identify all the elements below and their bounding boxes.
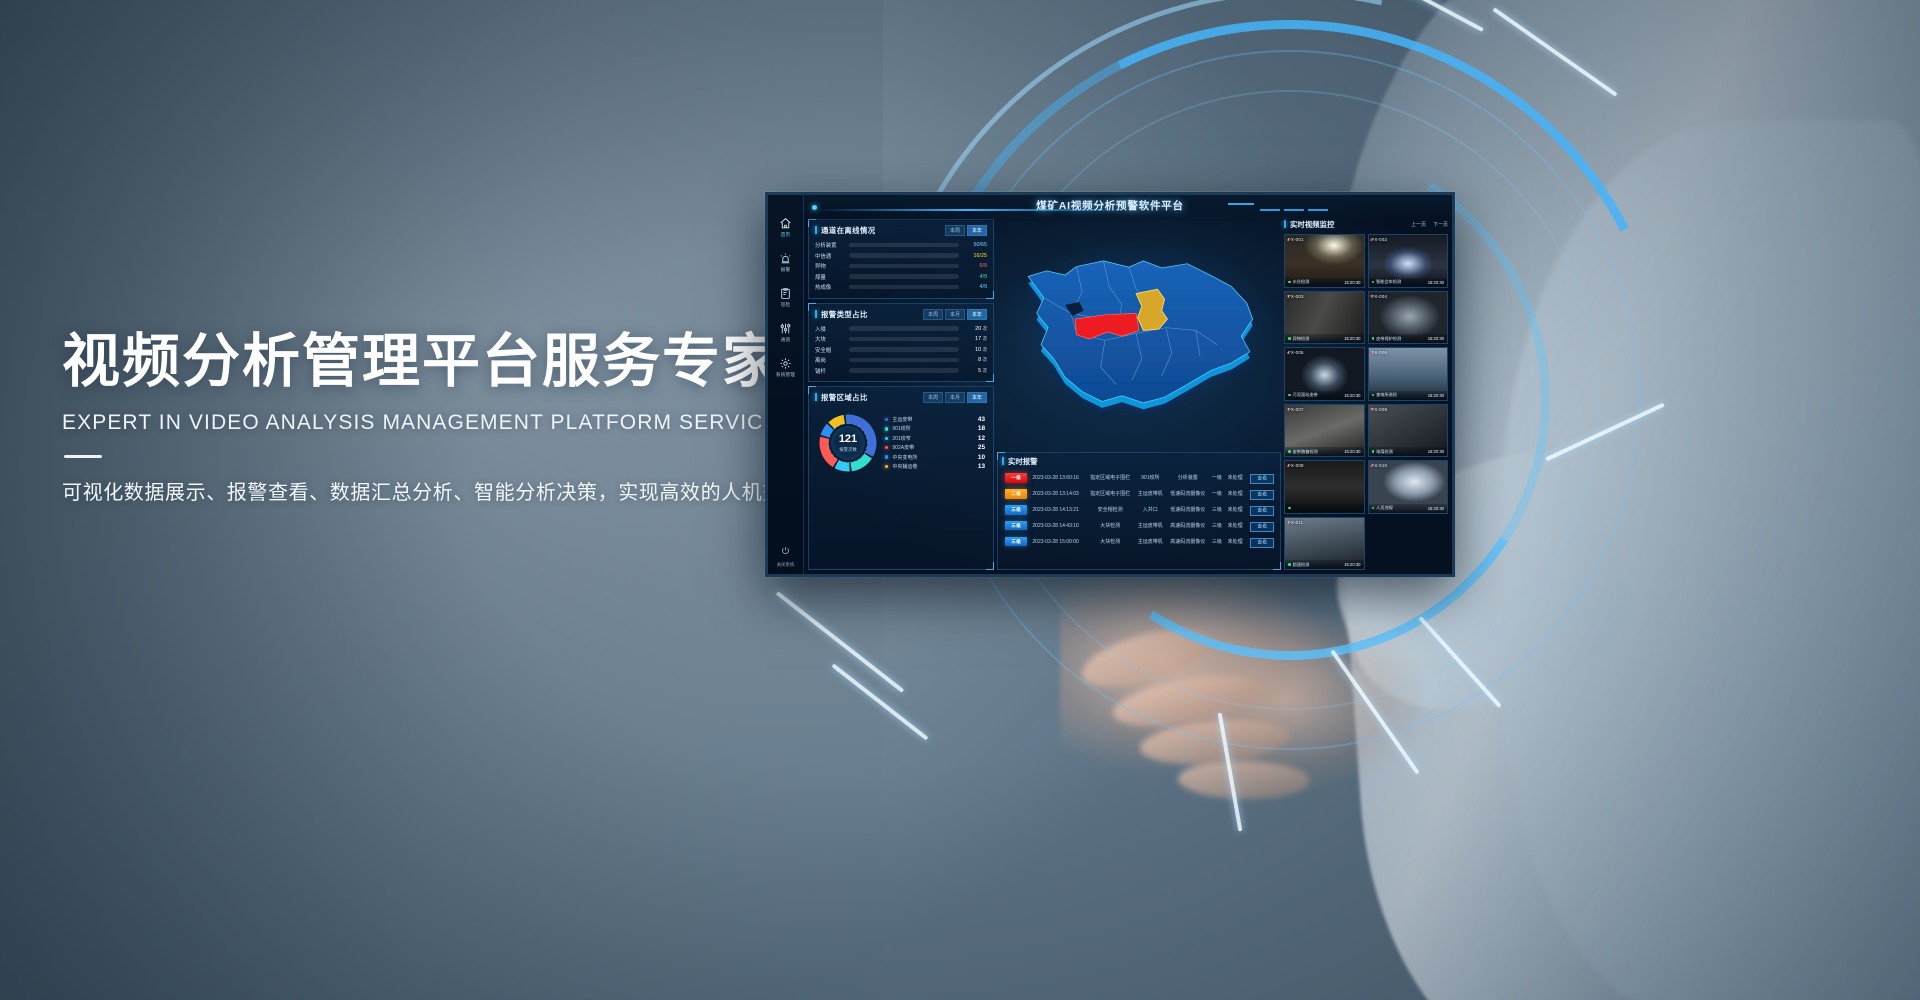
table-row[interactable]: 二级2023-03-28 13:14:03指定区域电子围栏主运皮带机低速码流摄像… bbox=[1002, 486, 1276, 502]
video-tile[interactable]: FX-003异物检测15:20:30 bbox=[1284, 291, 1365, 345]
online-dot-icon bbox=[1288, 450, 1291, 453]
alarm-status-cell: 未处理 bbox=[1225, 470, 1246, 486]
bar-label: 入侵 bbox=[815, 325, 845, 333]
bar-track bbox=[849, 358, 959, 363]
video-infobar: 皮带跑偏检测15:20:30 bbox=[1285, 447, 1364, 456]
status-badge: 一级 bbox=[1005, 473, 1027, 482]
camera-name: 堆煤检测 bbox=[1372, 449, 1393, 455]
legend-label: 中央变电所 bbox=[892, 454, 974, 461]
camera-time: 15:20:30 bbox=[1344, 562, 1360, 567]
alarm-area-panel: 报警区域占比 本周 本月 本年 121 报警次数 主运皮 bbox=[808, 386, 994, 570]
legend-item: 主运皮带43 bbox=[885, 416, 985, 423]
sidebar-label-inspection: 巡检 bbox=[781, 302, 791, 308]
bar-track bbox=[849, 253, 959, 258]
monitor-frame: 煤矿AI视频分析预警软件平台 首页 报警 bbox=[765, 192, 1455, 577]
type-panel-header: 报警类型占比 本周 本月 本年 bbox=[815, 309, 987, 320]
online-dot-icon bbox=[1372, 337, 1375, 340]
right-column: 实时视频监控 上一页 下一页 FX-001水仓检测15:20:30FX-002智… bbox=[1284, 219, 1448, 570]
power-icon bbox=[781, 542, 790, 560]
camera-name: 皮带保护检测 bbox=[1372, 336, 1402, 342]
bar-track bbox=[849, 326, 959, 331]
realtime-alarm-panel: 实时报警 一级2023-03-28 13:60:16指定区域电子围栏901绞所分… bbox=[997, 452, 1281, 570]
center-column: 实时报警 一级2023-03-28 13:60:16指定区域电子围栏901绞所分… bbox=[997, 219, 1281, 570]
video-tile[interactable]: FX-011超速检测15:20:30 bbox=[1284, 517, 1365, 571]
camera-id: FX-004 bbox=[1372, 294, 1388, 299]
video-infobar: 人员违规15:20:30 bbox=[1369, 504, 1448, 513]
bar-value: 8 次 bbox=[963, 357, 987, 363]
alarm-level-cell: 三级 bbox=[1002, 534, 1030, 550]
tab-month[interactable]: 本月 bbox=[945, 309, 965, 320]
alarm-level-cell: 三级 bbox=[1002, 518, 1030, 534]
view-button[interactable]: 查看 bbox=[1250, 522, 1274, 532]
table-row[interactable]: 三级2023-03-28 14:43:10大块检测主运皮带机高速码流摄像仪三级未… bbox=[1002, 518, 1276, 534]
alarm-level-cell: 三级 bbox=[1002, 502, 1030, 518]
map-svg bbox=[997, 219, 1281, 449]
camera-name: 人员违规 bbox=[1372, 505, 1393, 511]
legend-dot bbox=[885, 455, 888, 458]
view-button[interactable]: 查看 bbox=[1250, 474, 1274, 484]
bar-value: 4/9 bbox=[963, 284, 987, 290]
video-infobar: 堆煤检测15:20:30 bbox=[1369, 447, 1448, 456]
camera-name: 水仓检测 bbox=[1288, 279, 1309, 285]
channel-rows: 分析装置50/65中信通16/25异物6/9煤量4/9热成像4/9 bbox=[815, 241, 987, 291]
alarm-type-panel: 报警类型占比 本周 本月 本年 入侵20 次大块17 次安全帽10 次离岗8 次… bbox=[808, 303, 994, 383]
camera-id: FX-003 bbox=[1288, 294, 1304, 299]
sidebar-label-home: 首页 bbox=[781, 232, 791, 238]
camera-time: 15:20:30 bbox=[1428, 449, 1444, 454]
alarm-event-cell: 指定区域电子围栏 bbox=[1086, 486, 1134, 502]
camera-id: FX-005 bbox=[1288, 350, 1304, 355]
online-dot-icon bbox=[1372, 394, 1375, 397]
sidebar-label-channel: 通道 bbox=[781, 337, 791, 343]
status-badge: 三级 bbox=[1005, 521, 1027, 530]
online-dot-icon bbox=[1372, 450, 1375, 453]
type-panel-title: 报警类型占比 bbox=[815, 309, 868, 320]
camera-name: 异物检测 bbox=[1288, 336, 1309, 342]
donut-center: 121 报警次数 bbox=[831, 426, 865, 460]
alarm-status-cell: 未处理 bbox=[1225, 534, 1246, 550]
bar-row: 分析装置50/65 bbox=[815, 241, 987, 249]
camera-time: 15:20:30 bbox=[1428, 280, 1444, 285]
bar-label: 中信通 bbox=[815, 252, 845, 260]
table-row[interactable]: 三级2023-03-28 14:13:21安全帽检测入井口低速码流摄像仪三级未处… bbox=[1002, 502, 1276, 518]
status-badge: 三级 bbox=[1005, 505, 1027, 514]
sidebar-label-system: 系统管理 bbox=[776, 372, 795, 378]
online-dot-icon bbox=[1372, 281, 1375, 284]
online-dot-icon bbox=[1288, 337, 1291, 340]
channel-status-panel: 通道在离线情况 本周 本年 分析装置50/65中信通16/25异物6/9煤量4/… bbox=[808, 219, 994, 299]
bar-track bbox=[849, 285, 959, 290]
legend-value: 43 bbox=[978, 416, 985, 423]
alarm-grade-cell: 一级 bbox=[1209, 470, 1224, 486]
camera-time: 15:20:30 bbox=[1344, 280, 1360, 285]
legend-item: 中央辅运巷13 bbox=[885, 463, 985, 470]
alarm-grade-cell: 三级 bbox=[1209, 518, 1224, 534]
legend-dot bbox=[885, 427, 888, 430]
legend-dot bbox=[885, 465, 888, 468]
bar-value: 5 次 bbox=[963, 368, 987, 374]
legend-value: 18 bbox=[978, 425, 985, 432]
donut-caption: 报警次数 bbox=[839, 447, 857, 453]
alarm-status-cell: 未处理 bbox=[1225, 502, 1246, 518]
alarm-area-cell: 主运皮带机 bbox=[1134, 486, 1166, 502]
bar-row: 离岗8 次 bbox=[815, 356, 987, 364]
bar-row: 异物6/9 bbox=[815, 262, 987, 270]
bar-value: 4/9 bbox=[963, 274, 987, 280]
bar-value: 17 次 bbox=[963, 336, 987, 342]
legend-item: 中央变电所10 bbox=[885, 454, 985, 461]
video-infobar: 智能会车检测15:20:30 bbox=[1369, 278, 1448, 287]
video-tile[interactable]: FX-001水仓检测15:20:30 bbox=[1284, 234, 1365, 288]
tab-week[interactable]: 本周 bbox=[923, 392, 943, 403]
alarm-action-cell: 查看 bbox=[1246, 502, 1276, 518]
alarm-grade-cell: 一级 bbox=[1209, 486, 1224, 502]
alarm-action-cell: 查看 bbox=[1246, 486, 1276, 502]
camera-time: 15:20:30 bbox=[1428, 506, 1444, 511]
area-panel-title: 报警区域占比 bbox=[815, 392, 868, 403]
sidebar-item-inspection[interactable]: 巡检 bbox=[779, 287, 792, 308]
bar-track bbox=[849, 274, 959, 279]
bar-label: 离岗 bbox=[815, 356, 845, 364]
camera-name: 皮带跑偏检测 bbox=[1288, 449, 1318, 455]
bar-track bbox=[849, 368, 959, 373]
legend-label: 902A皮带 bbox=[892, 444, 974, 451]
online-dot-icon bbox=[1288, 507, 1291, 510]
bar-row: 热成像4/9 bbox=[815, 283, 987, 291]
alarm-time-cell: 2023-03-28 13:14:03 bbox=[1030, 486, 1086, 502]
table-row[interactable]: 一级2023-03-28 13:60:16指定区域电子围栏901绞所分析装置一级… bbox=[1002, 470, 1276, 486]
video-tile[interactable]: FX-010人员违规15:20:30 bbox=[1368, 460, 1449, 514]
alarm-device-cell: 分析装置 bbox=[1166, 470, 1209, 486]
tab-week[interactable]: 本周 bbox=[923, 309, 943, 320]
sidebar-label-power: 关闭系统 bbox=[777, 562, 795, 568]
realtime-alarm-title: 实时报警 bbox=[1002, 456, 1276, 467]
video-infobar: 污泥面站皮带15:20:30 bbox=[1285, 391, 1364, 400]
legend-item: 902A皮带25 bbox=[885, 444, 985, 451]
online-dot-icon bbox=[1288, 563, 1291, 566]
video-tile[interactable]: FX-007皮带跑偏检测15:20:30 bbox=[1284, 404, 1365, 458]
online-dot-icon bbox=[1288, 281, 1291, 284]
tab-week[interactable]: 本周 bbox=[945, 225, 965, 236]
bar-row: 入侵20 次 bbox=[815, 325, 987, 333]
divider bbox=[64, 455, 102, 458]
sidebar-item-home[interactable]: 首页 bbox=[779, 217, 792, 238]
camera-id: FX-006 bbox=[1372, 350, 1388, 355]
alarm-time-cell: 2023-03-28 13:60:16 bbox=[1030, 470, 1086, 486]
video-tile[interactable]: FX-002智能会车检测15:20:30 bbox=[1368, 234, 1449, 288]
bar-value: 20 次 bbox=[963, 326, 987, 332]
camera-name: 查电所巡检 bbox=[1372, 392, 1398, 398]
bar-row: 大块17 次 bbox=[815, 335, 987, 343]
tab-year[interactable]: 本年 bbox=[967, 225, 987, 236]
video-infobar: 超速检测15:20:30 bbox=[1285, 560, 1364, 569]
video-infobar: 皮带保护检测15:20:30 bbox=[1369, 334, 1448, 343]
camera-time: 15:20:30 bbox=[1344, 393, 1360, 398]
donut-value: 121 bbox=[839, 434, 857, 445]
alarm-action-cell: 查看 bbox=[1246, 518, 1276, 534]
bar-value: 10 次 bbox=[963, 347, 987, 353]
alarm-status-cell: 未处理 bbox=[1225, 518, 1246, 534]
tab-year[interactable]: 本年 bbox=[967, 392, 987, 403]
camera-id: FX-002 bbox=[1372, 237, 1388, 242]
status-badge: 三级 bbox=[1005, 537, 1027, 546]
camera-id: FX-008 bbox=[1372, 407, 1388, 412]
alarm-action-cell: 查看 bbox=[1246, 470, 1276, 486]
video-infobar bbox=[1285, 504, 1364, 513]
sidebar: 首页 报警 巡检 通道 bbox=[768, 195, 804, 574]
bar-label: 大块 bbox=[815, 335, 845, 343]
camera-time: 15:20:30 bbox=[1344, 449, 1360, 454]
donut-segment bbox=[837, 464, 850, 467]
status-badge: 二级 bbox=[1005, 489, 1027, 498]
bar-track bbox=[849, 337, 959, 342]
legend-dot bbox=[885, 446, 888, 449]
bar-label: 分析装置 bbox=[815, 241, 845, 249]
video-infobar: 查电所巡检15:20:30 bbox=[1369, 391, 1448, 400]
alarm-event-cell: 安全帽检测 bbox=[1086, 502, 1134, 518]
clipboard-icon bbox=[779, 287, 792, 300]
alarm-area-cell: 主运皮带机 bbox=[1134, 534, 1166, 550]
legend-value: 10 bbox=[978, 454, 985, 461]
donut-chart: 121 报警次数 bbox=[817, 412, 879, 474]
camera-time: 15:20:30 bbox=[1428, 393, 1444, 398]
camera-time: 15:20:30 bbox=[1344, 336, 1360, 341]
alarm-level-cell: 一级 bbox=[1002, 470, 1030, 486]
legend-label: 901绞所 bbox=[892, 425, 974, 432]
bar-value: 16/25 bbox=[963, 253, 987, 259]
channel-panel-header: 通道在离线情况 本周 本年 bbox=[815, 225, 987, 236]
camera-id: FX-009 bbox=[1288, 463, 1304, 468]
donut-legend: 主运皮带43901绞所18201绞窄12902A皮带25中央变电所10中央辅运巷… bbox=[885, 416, 985, 470]
alarm-area-cell: 主运皮带机 bbox=[1134, 518, 1166, 534]
video-tile[interactable]: FX-008堆煤检测15:20:30 bbox=[1368, 404, 1449, 458]
gear-icon bbox=[779, 357, 792, 370]
camera-name: 污泥面站皮带 bbox=[1288, 392, 1318, 398]
bar-row: 中信通16/25 bbox=[815, 252, 987, 260]
dashboard-screen: 煤矿AI视频分析预警软件平台 首页 报警 bbox=[768, 195, 1452, 574]
video-tile[interactable]: FX-009 bbox=[1284, 460, 1365, 514]
camera-name: 超速检测 bbox=[1288, 562, 1309, 568]
camera-time: 15:20:30 bbox=[1428, 336, 1444, 341]
legend-item: 201绞窄12 bbox=[885, 435, 985, 442]
camera-id: FX-011 bbox=[1288, 520, 1303, 525]
view-button[interactable]: 查看 bbox=[1250, 506, 1274, 516]
alarm-table: 一级2023-03-28 13:60:16指定区域电子围栏901绞所分析装置一级… bbox=[1002, 470, 1276, 550]
legend-dot bbox=[885, 418, 888, 421]
legend-dot bbox=[885, 437, 888, 440]
video-infobar: 水仓检测15:20:30 bbox=[1285, 278, 1364, 287]
camera-name bbox=[1288, 507, 1291, 510]
bar-label: 锚杆 bbox=[815, 367, 845, 375]
channel-panel-tabs: 本周 本年 bbox=[945, 225, 987, 236]
alarm-device-cell: 高速码流摄像仪 bbox=[1166, 518, 1209, 534]
bar-row: 煤量4/9 bbox=[815, 273, 987, 281]
alarm-level-cell: 二级 bbox=[1002, 486, 1030, 502]
alarm-grade-cell: 三级 bbox=[1209, 502, 1224, 518]
alarm-action-cell: 查看 bbox=[1246, 534, 1276, 550]
alarm-event-cell: 大块检测 bbox=[1086, 518, 1134, 534]
alarm-time-cell: 2023-03-28 15:00:00 bbox=[1030, 534, 1086, 550]
alarm-icon bbox=[779, 252, 792, 265]
channel-panel-title: 通道在离线情况 bbox=[815, 225, 876, 236]
region-map[interactable] bbox=[997, 219, 1281, 449]
camera-id: FX-001 bbox=[1288, 237, 1304, 242]
legend-label: 中央辅运巷 bbox=[892, 463, 974, 470]
prev-page-button[interactable]: 上一页 bbox=[1411, 221, 1426, 228]
alarm-device-cell: 低速码流摄像仪 bbox=[1166, 486, 1209, 502]
bar-label: 煤量 bbox=[815, 273, 845, 281]
sidebar-item-channel[interactable]: 通道 bbox=[779, 322, 792, 343]
bar-row: 安全帽10 次 bbox=[815, 346, 987, 354]
view-button[interactable]: 查看 bbox=[1250, 538, 1274, 548]
legend-label: 主运皮带 bbox=[892, 416, 974, 423]
bar-track bbox=[849, 347, 959, 352]
bar-value: 6/9 bbox=[963, 263, 987, 269]
legend-label: 201绞窄 bbox=[892, 435, 974, 442]
video-tile[interactable]: FX-005污泥面站皮带15:20:30 bbox=[1284, 347, 1365, 401]
legend-value: 12 bbox=[978, 435, 985, 442]
alarm-grade-cell: 三级 bbox=[1209, 534, 1224, 550]
online-dot-icon bbox=[1372, 507, 1375, 510]
video-tile[interactable]: FX-004皮带保护检测15:20:30 bbox=[1368, 291, 1449, 345]
tab-month[interactable]: 本月 bbox=[945, 392, 965, 403]
home-icon bbox=[779, 217, 792, 230]
alarm-event-cell: 大块检测 bbox=[1086, 534, 1134, 550]
tab-year[interactable]: 本年 bbox=[967, 309, 987, 320]
area-donut-wrap: 121 报警次数 主运皮带43901绞所18201绞窄12902A皮带25中央变… bbox=[815, 408, 987, 476]
video-grid: FX-001水仓检测15:20:30FX-002智能会车检测15:20:30FX… bbox=[1284, 234, 1448, 570]
alarm-status-cell: 未处理 bbox=[1225, 486, 1246, 502]
bar-value: 50/65 bbox=[963, 242, 987, 248]
table-row[interactable]: 三级2023-03-28 15:00:00大块检测主运皮带机高速码流摄像仪三级未… bbox=[1002, 534, 1276, 550]
area-panel-tabs: 本周 本月 本年 bbox=[923, 392, 987, 403]
alarm-device-cell: 低速码流摄像仪 bbox=[1166, 502, 1209, 518]
view-button[interactable]: 查看 bbox=[1250, 490, 1274, 500]
legend-item: 901绞所18 bbox=[885, 425, 985, 432]
alarm-area-cell: 入井口 bbox=[1134, 502, 1166, 518]
left-column: 通道在离线情况 本周 本年 分析装置50/65中信通16/25异物6/9煤量4/… bbox=[808, 219, 994, 570]
type-rows: 入侵20 次大块17 次安全帽10 次离岗8 次锚杆5 次 bbox=[815, 325, 987, 375]
camera-id: FX-007 bbox=[1288, 407, 1304, 412]
area-panel-header: 报警区域占比 本周 本月 本年 bbox=[815, 392, 987, 403]
legend-value: 25 bbox=[978, 444, 985, 451]
sidebar-item-system[interactable]: 系统管理 bbox=[776, 357, 795, 378]
sidebar-item-alarm[interactable]: 报警 bbox=[779, 252, 792, 273]
legend-value: 13 bbox=[978, 463, 985, 470]
sidebar-label-alarm: 报警 bbox=[781, 267, 791, 273]
online-dot-icon bbox=[1288, 394, 1291, 397]
alarm-device-cell: 高速码流摄像仪 bbox=[1166, 534, 1209, 550]
camera-name: 智能会车检测 bbox=[1372, 279, 1402, 285]
dashboard-header: 煤矿AI视频分析预警软件平台 bbox=[768, 195, 1452, 221]
video-tile[interactable]: FX-006查电所巡检15:20:30 bbox=[1368, 347, 1449, 401]
bar-row: 锚杆5 次 bbox=[815, 367, 987, 375]
camera-id: FX-010 bbox=[1372, 463, 1388, 468]
bar-track bbox=[849, 264, 959, 269]
alarm-area-cell: 901绞所 bbox=[1134, 470, 1166, 486]
bar-label: 安全帽 bbox=[815, 346, 845, 354]
next-page-button[interactable]: 下一页 bbox=[1433, 221, 1448, 228]
alarm-event-cell: 指定区域电子围栏 bbox=[1086, 470, 1134, 486]
bar-label: 热成像 bbox=[815, 283, 845, 291]
type-panel-tabs: 本周 本月 本年 bbox=[923, 309, 987, 320]
video-pager: 上一页 下一页 bbox=[1411, 221, 1448, 228]
bar-track bbox=[849, 243, 959, 248]
bar-label: 异物 bbox=[815, 262, 845, 270]
alarm-time-cell: 2023-03-28 14:13:21 bbox=[1030, 502, 1086, 518]
sidebar-item-power[interactable]: 关闭系统 bbox=[777, 542, 795, 568]
video-infobar: 异物检测15:20:30 bbox=[1285, 334, 1364, 343]
sliders-icon bbox=[779, 322, 792, 335]
alarm-time-cell: 2023-03-28 14:43:10 bbox=[1030, 518, 1086, 534]
